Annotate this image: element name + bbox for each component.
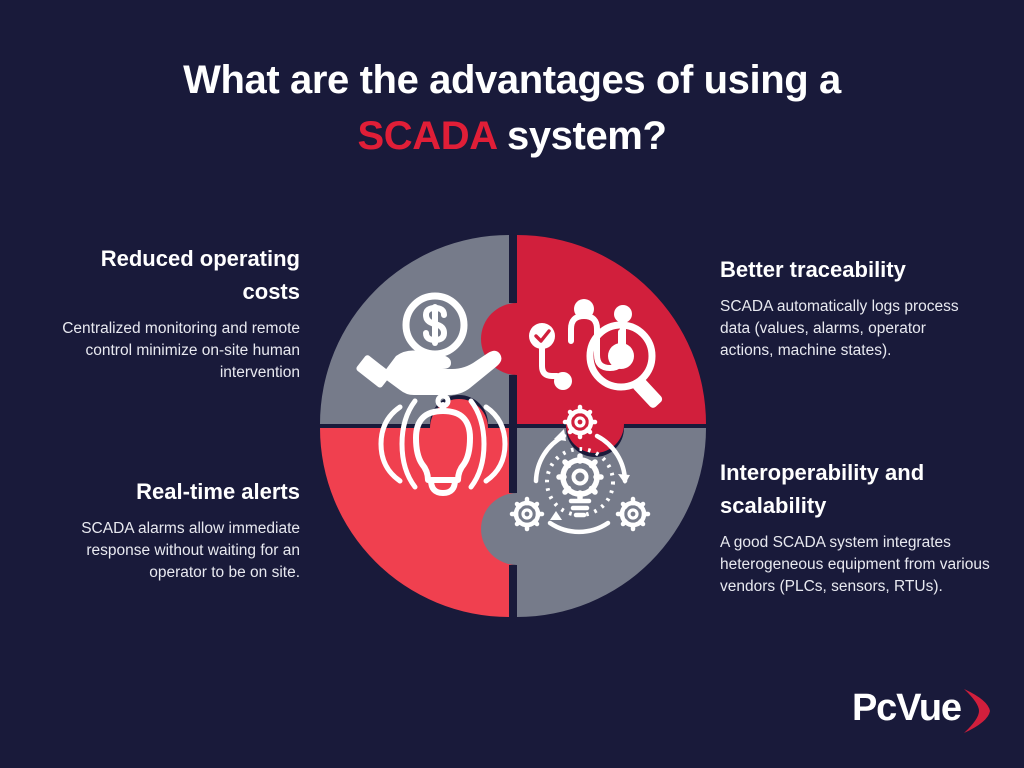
- advantage-body-reduced-cost: Centralized monitoring and remote contro…: [44, 318, 300, 384]
- pcvue-logo-mark: [962, 688, 992, 739]
- pcvue-logo: PcVue: [852, 686, 992, 738]
- title-line-1: What are the advantages of using a: [0, 52, 1024, 108]
- title-line-2-suffix: system?: [496, 114, 666, 158]
- advantage-block-interoperability: Interoperability and scalability A good …: [720, 456, 992, 598]
- advantage-block-realtime-alerts: Real-time alerts SCADA alarms allow imme…: [44, 475, 300, 584]
- advantage-body-traceability: SCADA automatically logs process data (v…: [720, 296, 982, 362]
- advantage-heading-realtime-alerts: Real-time alerts: [44, 475, 300, 508]
- puzzle-piece-bottom-right: [481, 428, 706, 617]
- title-accent-scada: SCADA: [358, 114, 497, 158]
- advantage-heading-traceability: Better traceability: [720, 253, 982, 286]
- advantage-heading-interoperability: Interoperability and scalability: [720, 456, 992, 522]
- page-title: What are the advantages of using a SCADA…: [0, 52, 1024, 164]
- advantage-body-realtime-alerts: SCADA alarms allow immediate response wi…: [44, 518, 300, 584]
- advantage-block-reduced-cost: Reduced operating costs Centralized moni…: [44, 242, 300, 384]
- advantage-block-traceability: Better traceability SCADA automatically …: [720, 253, 982, 362]
- advantage-heading-reduced-cost: Reduced operating costs: [44, 242, 300, 308]
- infographic-canvas: What are the advantages of using a SCADA…: [0, 0, 1024, 768]
- puzzle-graphic: [318, 229, 708, 619]
- check-circle-icon: [529, 323, 555, 349]
- advantage-body-interoperability: A good SCADA system integrates heterogen…: [720, 532, 992, 598]
- pcvue-logo-text: PcVue: [852, 686, 961, 730]
- title-line-2: SCADA system?: [0, 108, 1024, 164]
